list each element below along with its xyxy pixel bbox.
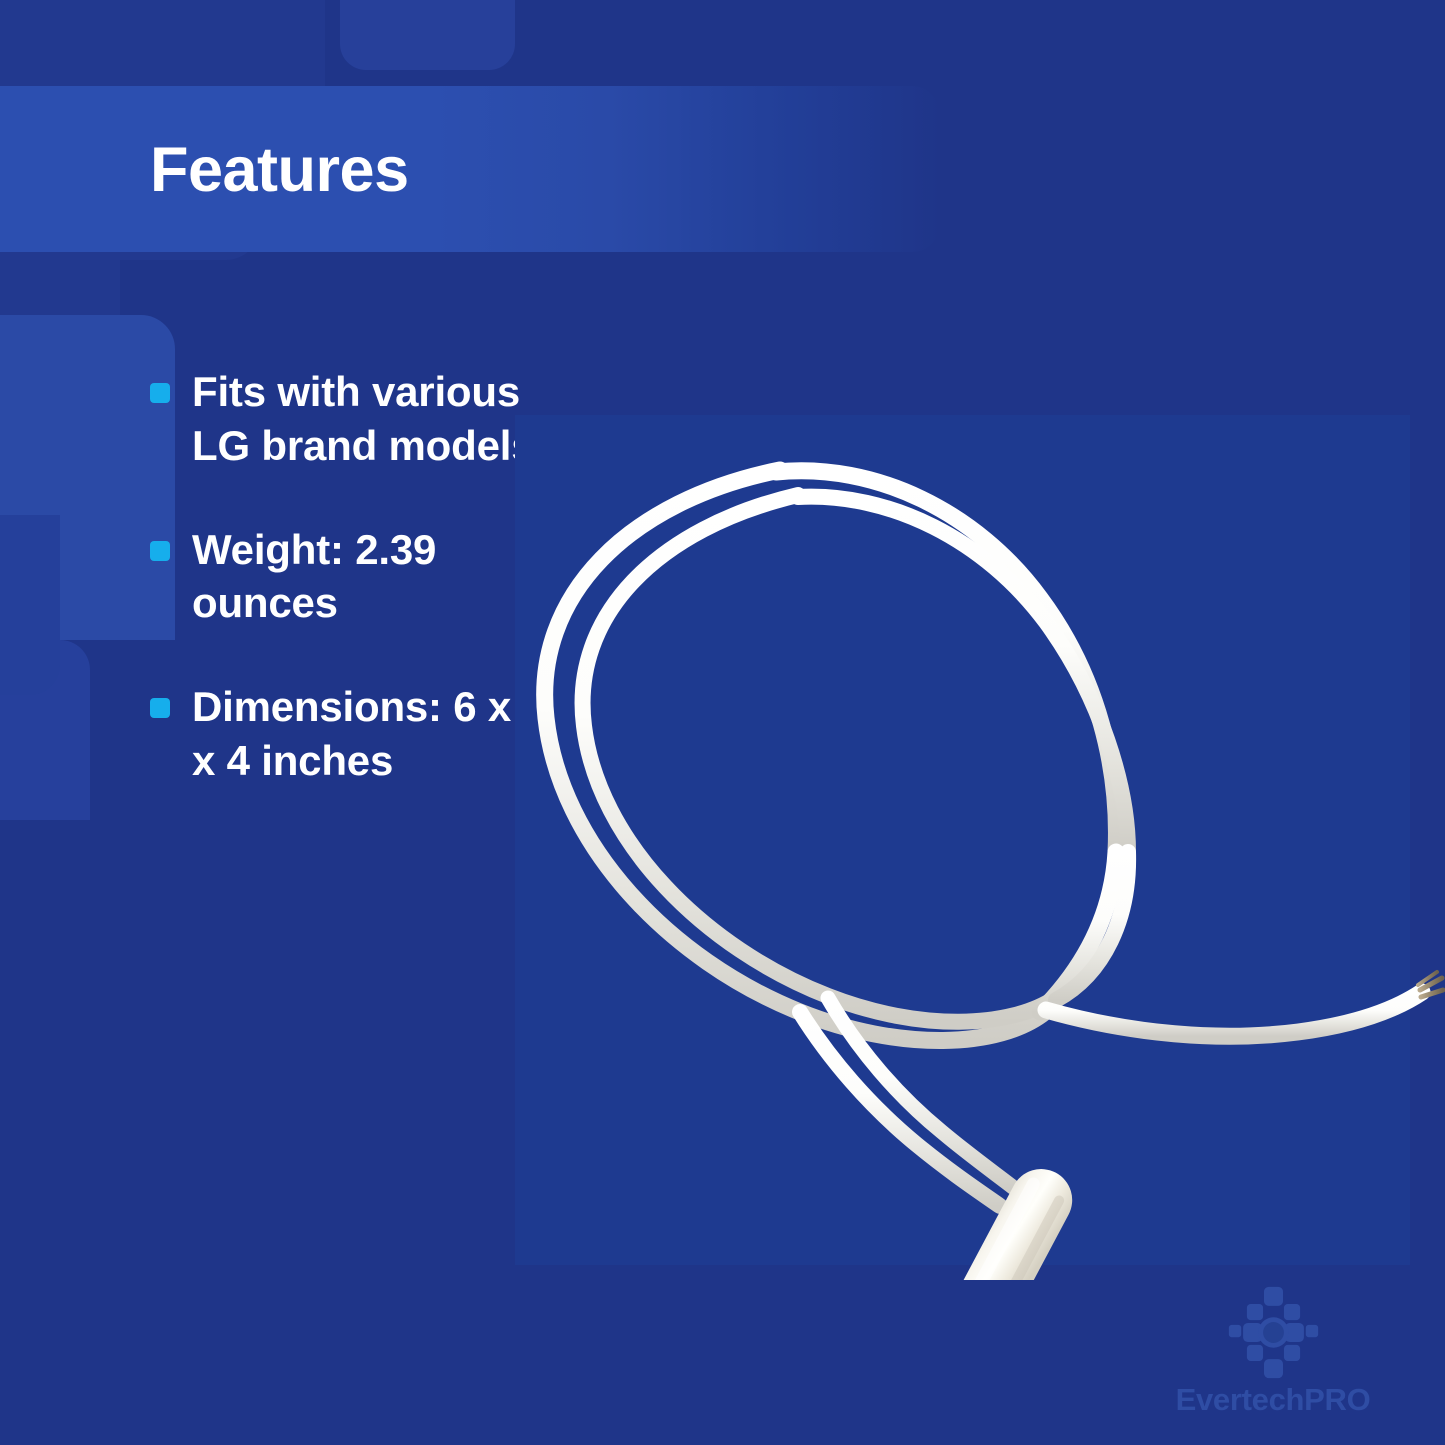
background-shape-left-lower — [0, 640, 90, 820]
product-image — [480, 400, 1445, 1280]
brand-name: EvertechPRO — [1153, 1384, 1393, 1415]
background-shape-left-strip — [0, 250, 120, 330]
background-shape-left-notch — [0, 515, 60, 695]
product-illustration — [480, 400, 1445, 1280]
infographic-canvas: Features Fits with various LG brand mode… — [0, 0, 1445, 1445]
square-bullet-icon — [150, 698, 170, 718]
brand-watermark: EvertechPRO — [1153, 1285, 1393, 1415]
features-banner — [0, 86, 940, 252]
background-shape-top-tab — [340, 0, 515, 70]
evertechpro-circuit-logo-icon — [1226, 1285, 1321, 1380]
square-bullet-icon — [150, 383, 170, 403]
background-shape-left-block — [0, 315, 175, 640]
page-title: Features — [150, 139, 409, 202]
square-bullet-icon — [150, 541, 170, 561]
